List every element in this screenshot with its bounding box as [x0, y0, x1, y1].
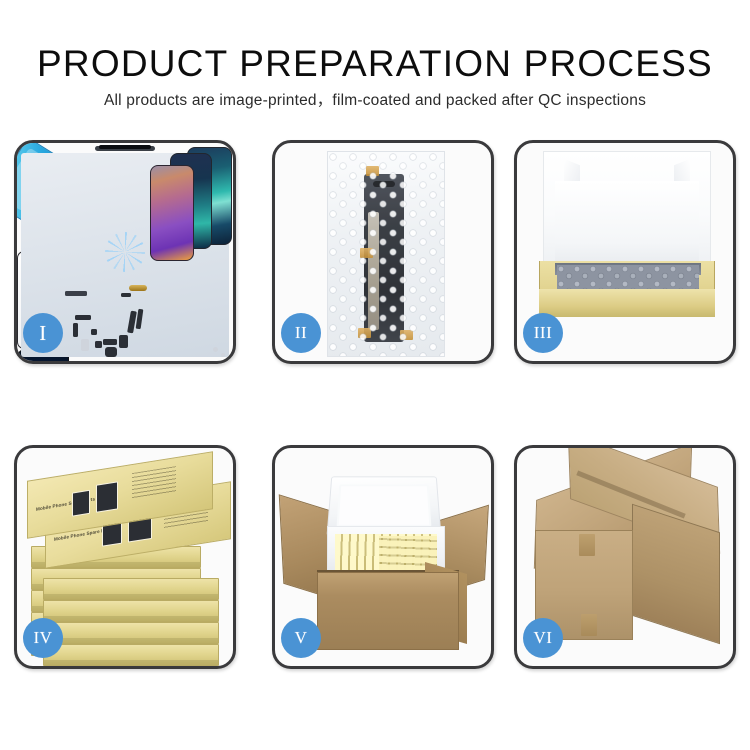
speaker-module-graphic [105, 347, 117, 357]
page-title: PRODUCT PREPARATION PROCESS [0, 42, 750, 86]
foam-inner-panel-graphic [555, 181, 699, 269]
step-badge-3: III [523, 313, 563, 353]
process-step-panel-3: III [514, 140, 736, 364]
product-window-1a [72, 490, 90, 517]
white-connector-graphic [81, 339, 89, 351]
process-step-panel-1: I [14, 140, 236, 364]
process-step-panel-6: VI [514, 445, 736, 669]
vibrator-module-graphic [119, 335, 128, 348]
packing-tape-upper-graphic [579, 534, 595, 556]
carton-front-panel-graphic [317, 572, 459, 650]
sensor-strip-graphic [103, 339, 117, 345]
process-step-panel-2: II [272, 140, 494, 364]
box-spec-lines-1 [132, 466, 176, 499]
stacked-box-front-3 [43, 578, 219, 600]
screw-graphic [91, 329, 97, 335]
yellow-box-front-wall-graphic [539, 289, 715, 317]
spare-part-bar-graphic [65, 291, 87, 296]
stacked-box-front-4 [43, 600, 219, 622]
header: PRODUCT PREPARATION PROCESS All products… [0, 0, 750, 111]
tiny-chip-graphic [95, 341, 102, 348]
bubble-texture-overlay [328, 152, 444, 356]
product-window-1b [96, 481, 118, 512]
product-preparation-process-infographic: PRODUCT PREPARATION PROCESS All products… [0, 0, 750, 750]
flex-cable-graphic [75, 315, 91, 320]
process-step-grid: I II [14, 140, 740, 685]
gold-flex-connector-graphic [129, 285, 147, 291]
flex-cable-leg-graphic [73, 323, 78, 337]
step-badge-4: IV [23, 618, 63, 658]
stacked-box-front-6 [43, 644, 219, 666]
screw-3-graphic [221, 353, 225, 357]
stacked-box-front-5 [43, 622, 219, 644]
bubble-wrap-bag-graphic [327, 151, 445, 357]
step-badge-2: II [281, 313, 321, 353]
small-component-graphic [121, 293, 131, 297]
process-step-panel-4: Mobile Phone Spare Parts Mobile Phone Sp… [14, 445, 236, 669]
step-badge-6: VI [523, 618, 563, 658]
page-subtitle: All products are image-printed，film-coat… [0, 91, 750, 111]
purple-phone-graphic [150, 165, 194, 261]
process-step-panel-5: V [272, 445, 494, 669]
screw-2-graphic [213, 347, 218, 352]
step-badge-1: I [23, 313, 63, 353]
step-badge-5: V [281, 618, 321, 658]
packing-tape-lower-graphic [581, 614, 597, 636]
